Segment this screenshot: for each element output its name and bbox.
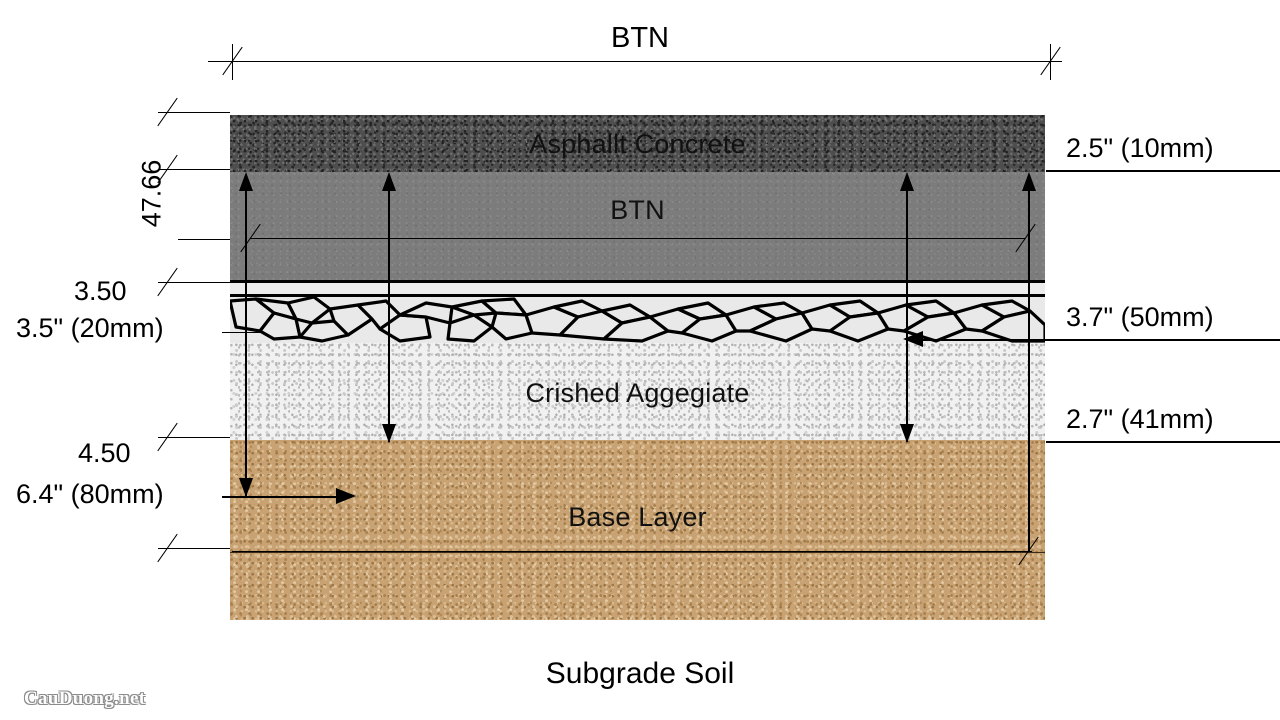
layer-label-btn: BTN [230,195,1045,226]
dimension-label-2-5-inch: 2.5" (10mm) [1066,133,1214,164]
dimension-label-47-66: 47.66 [136,160,167,228]
dimension-label-3-7-inch: 3.7" (50mm) [1066,302,1214,333]
dimension-label-2-7-inch: 2.7" (41mm) [1066,404,1214,435]
vertical-measure-line-left [245,176,247,496]
arrowhead-up-left [239,172,253,191]
watermark: CauDuong.net [24,688,145,710]
right-edge-dim-baseline [232,551,1032,552]
arrowhead-right-base [336,488,356,504]
top-dimension-line [208,61,1062,62]
diagram-canvas: BTN [0,0,1280,720]
arrowhead-down-left [239,478,253,497]
dimension-label-4-50: 4.50 [78,438,131,469]
vertical-measure-line-mid [388,176,390,442]
btn-inner-dimension-line [250,238,1025,239]
layer-tack-coat [230,280,1045,297]
arrowhead-down-mid [382,424,396,443]
dimension-label-3-50: 3.50 [74,276,127,307]
arrowhead-up-right-inner [900,172,914,191]
layer-btn [230,172,1045,283]
right-leader-line-1 [1046,170,1280,172]
left-ext-line-6 [158,548,230,549]
layer-label-base: Base Layer [230,502,1045,533]
vertical-measure-line-right-edge [1028,176,1030,551]
left-ext-line-3 [178,239,230,240]
vertical-measure-line-right-inner [906,176,908,442]
right-leader-line-3 [1046,441,1280,443]
base-layer-hairline [230,552,1045,553]
bottom-caption-subgrade-soil: Subgrade Soil [0,657,1280,691]
arrowhead-up-mid [382,172,396,191]
left-ext-line-1 [158,112,230,113]
left-ext-line-4 [158,282,230,283]
right-leader-line-2-inner [920,339,1050,341]
layer-label-asphalt-concrete: Asphallt Concrete [230,129,1045,160]
layer-label-crushed-aggregate: Crished Aggegiate [230,378,1045,409]
dimension-label-3-5-inch: 3.5" (20mm) [16,313,164,344]
arrowhead-down-right-inner [900,424,914,443]
arrowhead-up-right-edge [1022,172,1036,191]
right-leader-line-2 [1046,339,1280,341]
leader-3-5-inch [222,332,262,333]
left-ext-line-2 [158,169,230,170]
dimension-label-6-4-inch: 6.4" (80mm) [16,479,164,510]
top-dimension-label: BTN [0,22,1280,55]
leader-6-4-inch [222,496,342,498]
left-ext-line-5 [158,437,230,438]
